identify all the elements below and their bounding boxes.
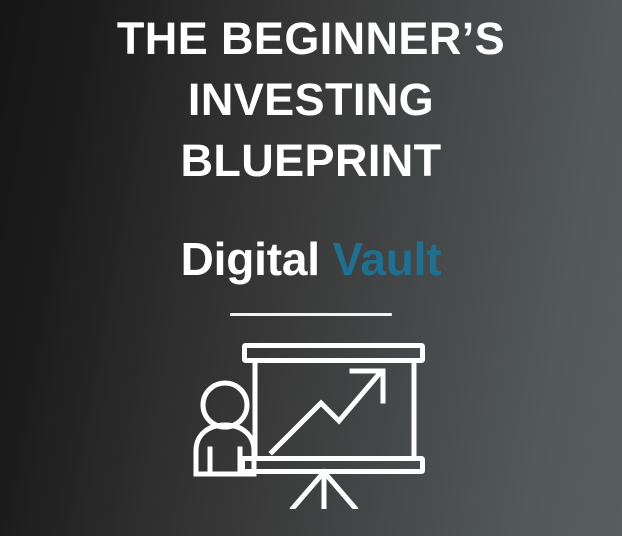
person-head bbox=[203, 383, 247, 427]
screen-top-bar bbox=[245, 346, 423, 361]
page-title: THE BEGINNER’S INVESTING BLUEPRINT bbox=[0, 8, 622, 191]
subtitle: Digital Vault bbox=[181, 233, 442, 285]
upward-trend-arrow bbox=[272, 374, 379, 452]
title-line-1: THE BEGINNER’S bbox=[0, 8, 622, 69]
presentation-chart-icon bbox=[193, 341, 429, 509]
title-line-3: BLUEPRINT bbox=[0, 130, 622, 191]
title-line-2: INVESTING bbox=[0, 69, 622, 130]
subtitle-word-accent: Vault bbox=[332, 233, 441, 285]
tripod-right-leg bbox=[324, 472, 355, 508]
tripod-left-leg bbox=[293, 472, 324, 508]
divider-rule bbox=[230, 313, 392, 316]
cover-slide: THE BEGINNER’S INVESTING BLUEPRINT Digit… bbox=[0, 0, 622, 536]
screen-bottom-bar bbox=[243, 459, 423, 472]
person-body bbox=[196, 425, 254, 474]
subtitle-word-primary: Digital bbox=[181, 233, 320, 285]
